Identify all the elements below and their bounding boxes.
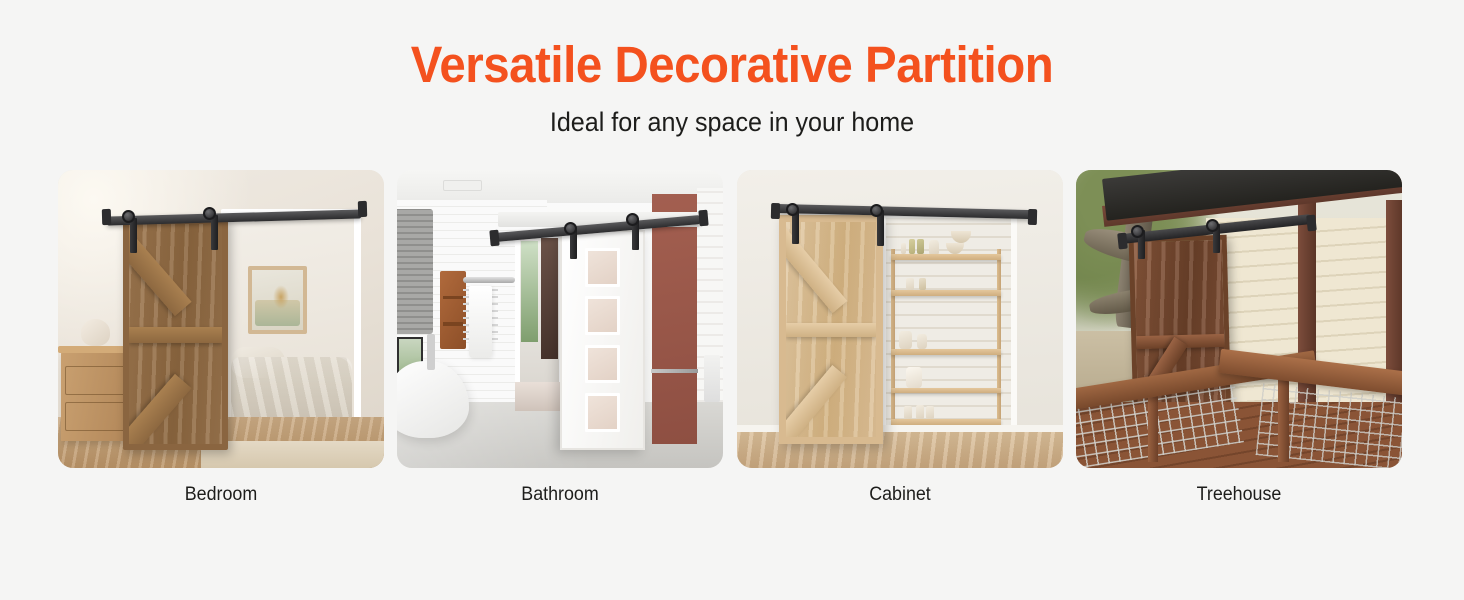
- rail-end-cap-right: [1028, 209, 1037, 225]
- rail-end-cap-right: [698, 210, 708, 227]
- barn-door: [560, 230, 645, 451]
- glass-panel-4: [585, 393, 620, 432]
- terracotta-accent-panel: [652, 194, 698, 444]
- door-diagonal-brace-lower: [123, 374, 191, 450]
- bedroom-scene: [58, 170, 384, 468]
- canister-2: [919, 278, 926, 290]
- roller-wheel-left: [786, 203, 799, 216]
- door-diagonal-brace-upper: [779, 222, 847, 313]
- use-case-card-treehouse: Treehouse: [1076, 170, 1402, 506]
- hanger-strap-left: [130, 218, 137, 254]
- jar-3: [917, 239, 923, 254]
- shelf-board-1: [891, 254, 1001, 260]
- nightstand: [61, 352, 126, 441]
- use-case-card-cabinet: Cabinet: [737, 170, 1063, 506]
- cabinet-scene: [737, 170, 1063, 468]
- rail-end-cap-left: [771, 203, 780, 219]
- glass-panel-1: [585, 248, 620, 287]
- jar-1: [901, 243, 906, 254]
- rail-end-cap-right: [358, 201, 367, 217]
- banner-header: Versatile Decorative Partition Ideal for…: [0, 0, 1464, 138]
- hanging-towel: [469, 286, 492, 358]
- towel-bar: [463, 277, 515, 283]
- cup-1: [904, 406, 913, 420]
- bathroom-photo: [397, 170, 723, 468]
- treehouse-scene: [1076, 170, 1402, 468]
- glass-panel-3: [585, 345, 620, 384]
- rail-end-cap-left: [102, 209, 111, 225]
- treehouse-photo: [1076, 170, 1402, 468]
- pitcher-1: [929, 240, 939, 254]
- cup-3: [926, 406, 933, 420]
- card-caption: Bathroom: [407, 484, 713, 506]
- bedroom-interior: [228, 216, 354, 444]
- rail-end-cap-left: [490, 229, 500, 246]
- canister-1: [906, 278, 913, 290]
- tub-faucet: [427, 334, 435, 370]
- bedroom-photo: [58, 170, 384, 468]
- shelf-board-3: [891, 349, 1001, 355]
- shelf-board-2: [891, 290, 1001, 296]
- jar-2: [909, 239, 915, 254]
- shelf-board-4: [891, 388, 1001, 394]
- bathroom-scene: [397, 170, 723, 468]
- barn-door: [779, 215, 883, 444]
- pantry-niche: [880, 212, 1017, 444]
- sugar-bowl: [917, 334, 927, 349]
- door-horizontal-brace: [786, 323, 876, 337]
- use-case-card-bedroom: Bedroom: [58, 170, 384, 506]
- hanger-strap-right: [211, 215, 218, 251]
- roller-wheel-right: [203, 207, 216, 220]
- framed-art: [248, 266, 307, 335]
- card-caption: Bedroom: [68, 484, 374, 506]
- use-case-card-bathroom: Bathroom: [397, 170, 723, 506]
- ceiling-vent: [443, 180, 482, 190]
- nightstand-top: [58, 346, 130, 353]
- vase: [81, 319, 110, 346]
- doorway-frame: [221, 209, 361, 444]
- right-towel: [704, 355, 720, 403]
- card-caption: Cabinet: [746, 484, 1052, 506]
- banner-subtitle: Ideal for any space in your home: [51, 106, 1413, 138]
- glass-panel-2: [585, 296, 620, 335]
- roller-wheel-right: [626, 213, 639, 226]
- window-bench: [515, 382, 564, 412]
- card-caption: Treehouse: [1086, 484, 1392, 506]
- door-diagonal-brace-lower: [779, 365, 847, 444]
- teapot-2: [906, 367, 922, 387]
- shelf-upright-right: [997, 249, 1001, 421]
- window-blinds: [397, 209, 433, 334]
- teapot-1: [899, 331, 913, 349]
- banner-title: Versatile Decorative Partition: [51, 38, 1413, 92]
- door-horizontal-brace: [129, 327, 221, 342]
- barn-door: [123, 218, 227, 450]
- shelf-upright-left: [891, 249, 895, 421]
- product-feature-banner: Versatile Decorative Partition Ideal for…: [0, 0, 1464, 600]
- roller-wheel-left: [564, 222, 577, 235]
- railing-post-2: [1278, 379, 1288, 462]
- use-case-gallery: Bedroom: [58, 170, 1402, 506]
- roller-wheel-left: [122, 210, 135, 223]
- cabinet-photo: [737, 170, 1063, 468]
- rug: [201, 441, 384, 468]
- cup-2: [916, 405, 923, 420]
